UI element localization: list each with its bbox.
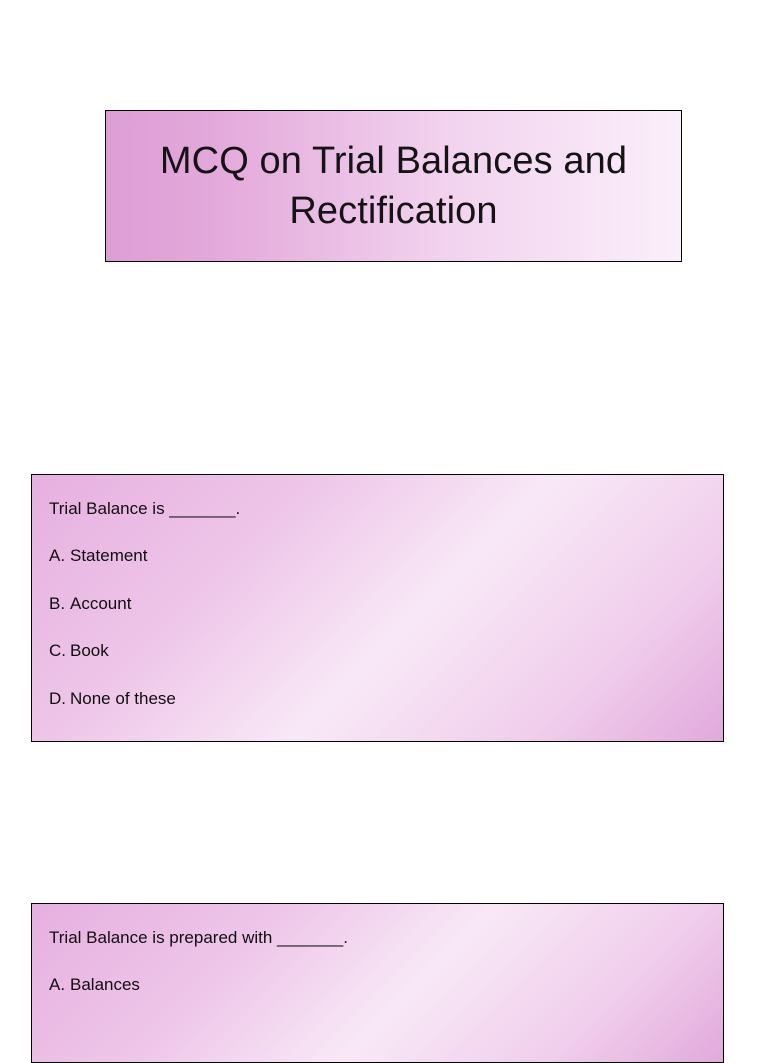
slide-title-box: MCQ on Trial Balances and Rectification	[105, 110, 682, 262]
question-1-option-a[interactable]: A. Statement	[40, 546, 723, 566]
question-2-prompt: Trial Balance is prepared with _______.	[40, 928, 723, 948]
option-label: Statement	[70, 546, 148, 566]
question-2-option-a[interactable]: A. Balances	[40, 975, 723, 995]
page-title: MCQ on Trial Balances and Rectification	[106, 136, 681, 236]
question-1-option-c[interactable]: C. Book	[40, 641, 723, 661]
option-label: Account	[70, 594, 131, 614]
question-1-option-b[interactable]: B. Account	[40, 594, 723, 614]
option-marker: A.	[49, 546, 70, 566]
option-label: Balances	[70, 975, 140, 995]
option-label: Book	[70, 641, 109, 661]
question-1-option-d[interactable]: D. None of these	[40, 689, 723, 709]
question-box-2: Trial Balance is prepared with _______. …	[31, 903, 724, 1063]
question-1-prompt: Trial Balance is _______.	[40, 499, 723, 519]
question-box-1: Trial Balance is _______. A. Statement B…	[31, 474, 724, 742]
option-marker: A.	[49, 975, 70, 995]
option-marker: B.	[49, 594, 70, 614]
option-marker: D.	[49, 689, 70, 709]
option-label: None of these	[70, 689, 176, 709]
option-marker: C.	[49, 641, 70, 661]
